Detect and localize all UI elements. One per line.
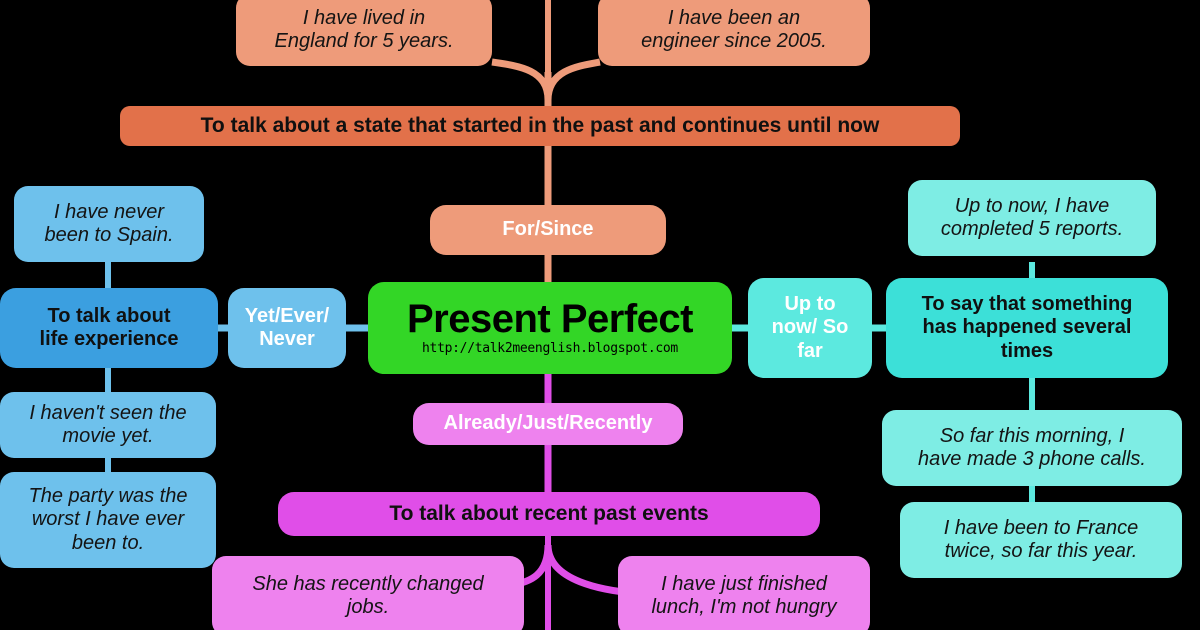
usage-left: To talk about life experience <box>0 288 218 368</box>
usage-right: To say that something has happened sever… <box>886 278 1168 378</box>
usage-top: To talk about a state that started in th… <box>120 106 960 146</box>
center-title: Present Perfect <box>407 299 693 339</box>
example-right-2: So far this morning, I have made 3 phone… <box>882 410 1182 486</box>
example-left-2: I haven't seen the movie yet. <box>0 392 216 458</box>
example-right-3: I have been to France twice, so far this… <box>900 502 1182 578</box>
link-top-example-right <box>548 62 600 100</box>
mindmap-canvas: I have lived in England for 5 years. I h… <box>0 0 1200 630</box>
example-right-1: Up to now, I have completed 5 reports. <box>908 180 1156 256</box>
center-node-present-perfect[interactable]: Present Perfect http://talk2meenglish.bl… <box>368 282 732 374</box>
center-url: http://talk2meenglish.blogspot.com <box>422 341 678 356</box>
keyword-already-just-recently: Already/Just/Recently <box>413 403 683 445</box>
example-top-1: I have lived in England for 5 years. <box>236 0 492 66</box>
example-top-2: I have been an engineer since 2005. <box>598 0 870 66</box>
keyword-up-to-now-so-far: Up to now/ So far <box>748 278 872 378</box>
keyword-for-since: For/Since <box>430 205 666 255</box>
example-left-1: I have never been to Spain. <box>14 186 204 262</box>
example-bottom-2: I have just finished lunch, I'm not hung… <box>618 556 870 630</box>
example-left-3: The party was the worst I have ever been… <box>0 472 216 568</box>
link-top-example-left <box>492 62 548 100</box>
usage-bottom: To talk about recent past events <box>278 492 820 536</box>
example-bottom-1: She has recently changed jobs. <box>212 556 524 630</box>
keyword-yet-ever-never: Yet/Ever/ Never <box>228 288 346 368</box>
